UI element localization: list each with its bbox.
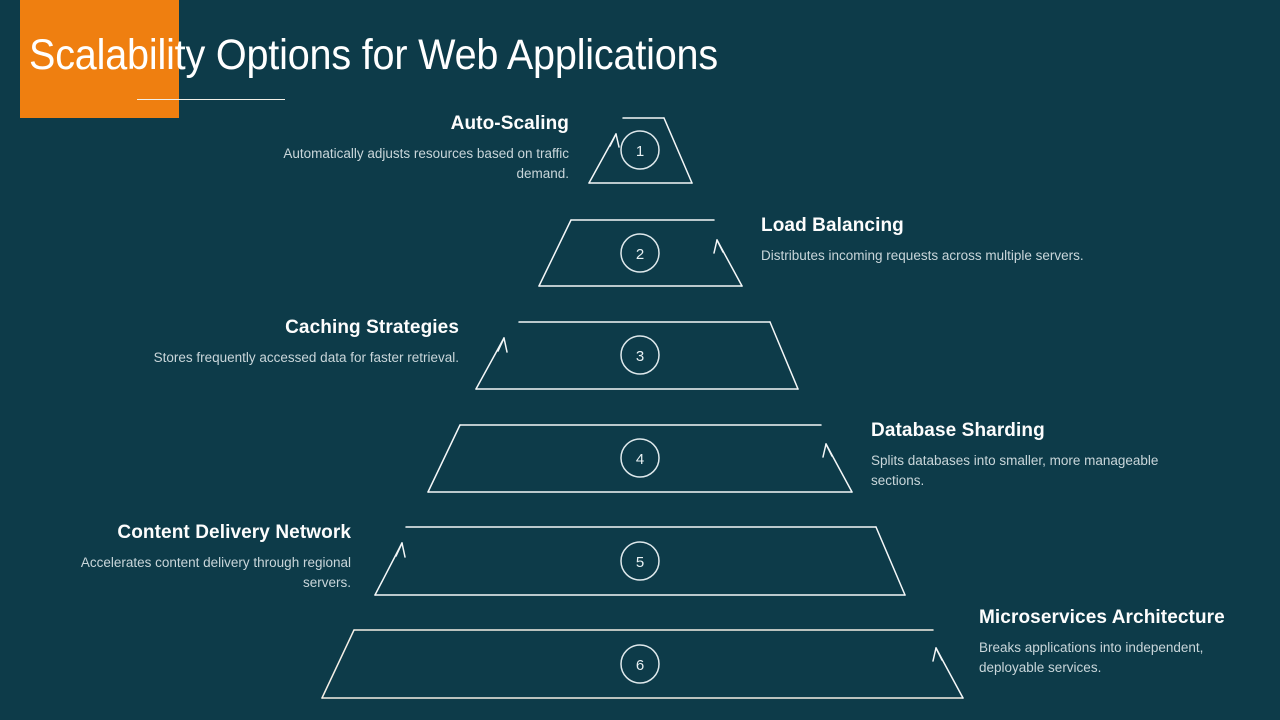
level-description-5: Accelerates content delivery through reg…	[51, 553, 351, 592]
arrow-up-left-2	[714, 240, 742, 286]
level-description-2: Distributes incoming requests across mul…	[761, 246, 1091, 266]
arrow-up-right-1	[589, 134, 619, 183]
level-label-5[interactable]: Content Delivery Network Accelerates con…	[51, 521, 351, 592]
arrow-up-left-4	[823, 444, 852, 492]
number-label-2: 2	[636, 246, 644, 263]
slide-canvas: Scalability Options for Web Applications	[0, 0, 1280, 720]
level-label-3[interactable]: Caching Strategies Stores frequently acc…	[119, 316, 459, 368]
number-label-1: 1	[636, 143, 644, 160]
number-label-4: 4	[636, 451, 644, 468]
level-description-1: Automatically adjusts resources based on…	[249, 144, 569, 183]
level-heading-3: Caching Strategies	[119, 316, 459, 340]
level-heading-4: Database Sharding	[871, 419, 1191, 443]
level-label-4[interactable]: Database Sharding Splits databases into …	[871, 419, 1191, 490]
level-number-badges	[621, 131, 659, 683]
arrow-up-left-6	[933, 648, 963, 698]
arrow-up-right-3	[476, 338, 507, 389]
level-label-6[interactable]: Microservices Architecture Breaks applic…	[979, 606, 1229, 677]
level-label-2[interactable]: Load Balancing Distributes incoming requ…	[761, 214, 1091, 266]
arrow-up-right-5	[375, 543, 405, 595]
number-label-3: 3	[636, 348, 644, 365]
level-description-3: Stores frequently accessed data for fast…	[119, 348, 459, 368]
number-label-6: 6	[636, 657, 644, 674]
level-heading-6: Microservices Architecture	[979, 606, 1229, 630]
level-label-1[interactable]: Auto-Scaling Automatically adjusts resou…	[249, 112, 569, 183]
number-label-5: 5	[636, 554, 644, 571]
level-heading-2: Load Balancing	[761, 214, 1091, 238]
level-heading-1: Auto-Scaling	[249, 112, 569, 136]
level-description-6: Breaks applications into independent, de…	[979, 638, 1229, 677]
level-heading-5: Content Delivery Network	[51, 521, 351, 545]
level-description-4: Splits databases into smaller, more mana…	[871, 451, 1191, 490]
